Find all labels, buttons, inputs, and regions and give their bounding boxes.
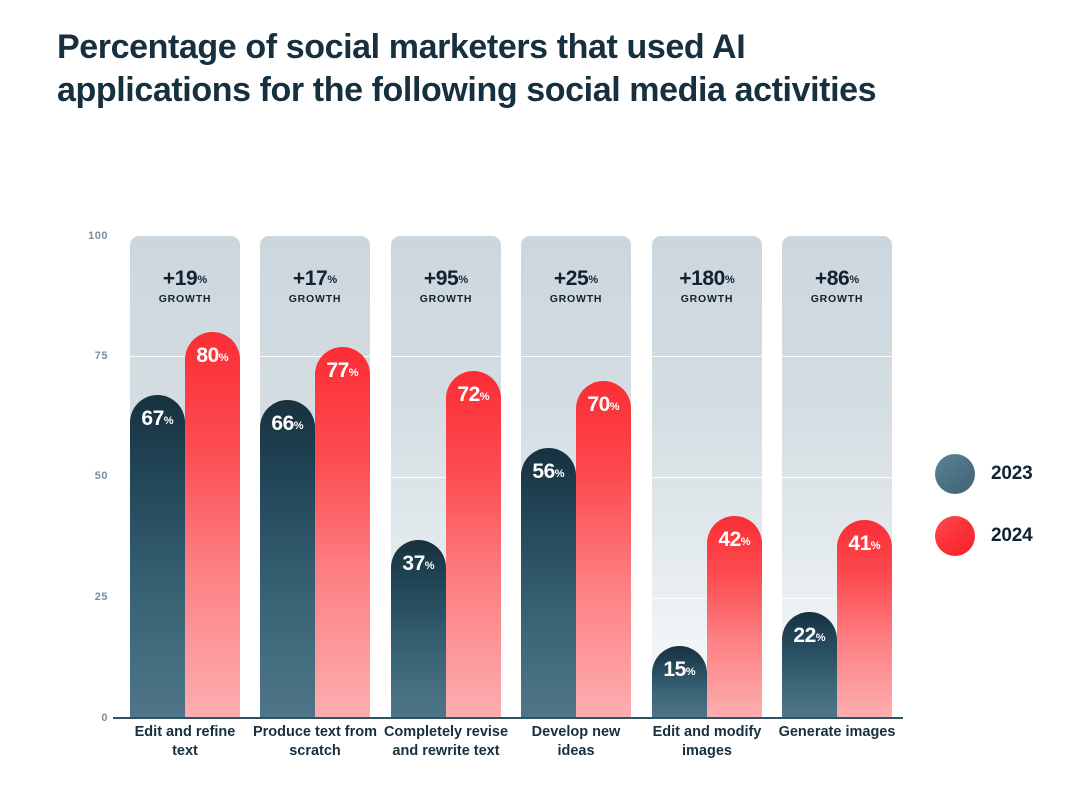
category-label: Develop new ideas [513,723,639,761]
bar-value-label: 66% [260,413,315,434]
bar-2024[interactable]: 80% [185,332,240,718]
growth-percent-symbol: % [458,274,468,286]
bar-value-label: 67% [130,408,185,429]
growth-value: +95 [424,267,458,290]
bar-value-label: 56% [521,461,576,482]
percent-symbol: % [349,367,359,379]
growth-value: +180 [679,267,725,290]
growth-annotation: +95% GROWTH [391,268,501,305]
gridline-75 [782,356,892,357]
growth-percent-symbol: % [197,274,207,286]
bar-value: 22 [793,624,815,647]
bar-2024[interactable]: 72% [446,371,501,718]
bar-group-completely-revise-and-rewrite-text: +95% GROWTH 37% 72% [391,236,501,718]
percent-symbol: % [164,415,174,427]
bar-value-label: 37% [391,553,446,574]
growth-caption: GROWTH [130,294,240,305]
bar-value-label: 41% [837,533,892,554]
growth-value: +86 [815,267,849,290]
category-label: Edit and refine text [122,723,248,761]
bar-value-label: 70% [576,394,631,415]
bar-group-develop-new-ideas: +25% GROWTH 56% 70% [521,236,631,718]
percent-symbol: % [425,560,435,572]
growth-caption: GROWTH [521,294,631,305]
y-tick-75: 75 [62,350,108,362]
category-label: Generate images [774,723,900,742]
growth-percent-symbol: % [849,274,859,286]
bar-value: 67 [141,407,163,430]
bar-value: 66 [271,412,293,435]
axis-baseline [113,717,903,719]
growth-annotation: +25% GROWTH [521,268,631,305]
bar-value-label: 42% [707,529,762,550]
growth-percent-symbol: % [327,274,337,286]
gridline-75 [391,356,501,357]
percent-symbol: % [816,632,826,644]
bar-value: 70 [587,393,609,416]
legend-item-2024[interactable]: 2024 [935,505,1075,567]
bar-group-edit-and-modify-images: +180% GROWTH 15% 42% [652,236,762,718]
gridline-75 [652,356,762,357]
bar-value: 42 [718,528,740,551]
legend-label: 2023 [991,463,1032,485]
growth-caption: GROWTH [260,294,370,305]
category-label: Produce text from scratch [252,723,378,761]
percent-symbol: % [686,666,696,678]
growth-caption: GROWTH [652,294,762,305]
bar-group-edit-and-refine-text: +19% GROWTH 67% 80% [130,236,240,718]
gridline-75 [521,356,631,357]
bar-2023[interactable]: 56% [521,448,576,718]
gridline-50 [782,477,892,478]
growth-annotation: +180% GROWTH [652,268,762,305]
percent-symbol: % [219,352,229,364]
legend-swatch-circle-icon [935,454,975,494]
bar-value: 37 [402,552,424,575]
growth-percent-symbol: % [588,274,598,286]
percent-symbol: % [480,391,490,403]
bar-value: 80 [196,344,218,367]
percent-symbol: % [741,536,751,548]
bar-group-produce-text-from-scratch: +17% GROWTH 66% 77% [260,236,370,718]
growth-value: +19 [163,267,197,290]
percent-symbol: % [871,540,881,552]
growth-value: +25 [554,267,588,290]
growth-annotation: +17% GROWTH [260,268,370,305]
growth-annotation: +19% GROWTH [130,268,240,305]
growth-value: +17 [293,267,327,290]
bar-2023[interactable]: 15% [652,646,707,718]
bar-value: 77 [326,359,348,382]
percent-symbol: % [555,468,565,480]
y-tick-0: 0 [62,712,108,724]
percent-symbol: % [294,420,304,432]
bar-value-label: 15% [652,659,707,680]
bar-value-label: 77% [315,360,370,381]
y-tick-25: 25 [62,591,108,603]
legend-item-2023[interactable]: 2023 [935,443,1075,505]
bar-2024[interactable]: 77% [315,347,370,718]
y-tick-50: 50 [62,470,108,482]
bar-2023[interactable]: 37% [391,540,446,718]
bar-value-label: 72% [446,384,501,405]
bar-2024[interactable]: 70% [576,381,631,718]
growth-caption: GROWTH [391,294,501,305]
percent-symbol: % [610,401,620,413]
legend-swatch-circle-icon [935,516,975,556]
bar-value: 72 [457,383,479,406]
category-label: Completely revise and rewrite text [383,723,509,761]
bar-value-label: 80% [185,345,240,366]
bar-value: 15 [663,658,685,681]
gridline-50 [652,477,762,478]
bar-2023[interactable]: 67% [130,395,185,718]
bar-value: 41 [848,532,870,555]
bar-value-label: 22% [782,625,837,646]
chart-legend: 2023 2024 [935,443,1075,567]
y-tick-100: 100 [62,230,108,242]
chart-plot-area: 100 75 50 25 0 +19% GROWTH 67% 80% +17% … [0,0,1080,800]
growth-caption: GROWTH [782,294,892,305]
bar-2024[interactable]: 41% [837,520,892,718]
bar-2024[interactable]: 42% [707,516,762,718]
category-label: Edit and modify images [644,723,770,761]
bar-group-generate-images: +86% GROWTH 22% 41% [782,236,892,718]
legend-label: 2024 [991,525,1032,547]
growth-annotation: +86% GROWTH [782,268,892,305]
bar-value: 56 [532,460,554,483]
bar-2023[interactable]: 22% [782,612,837,718]
growth-percent-symbol: % [725,274,735,286]
bar-2023[interactable]: 66% [260,400,315,718]
